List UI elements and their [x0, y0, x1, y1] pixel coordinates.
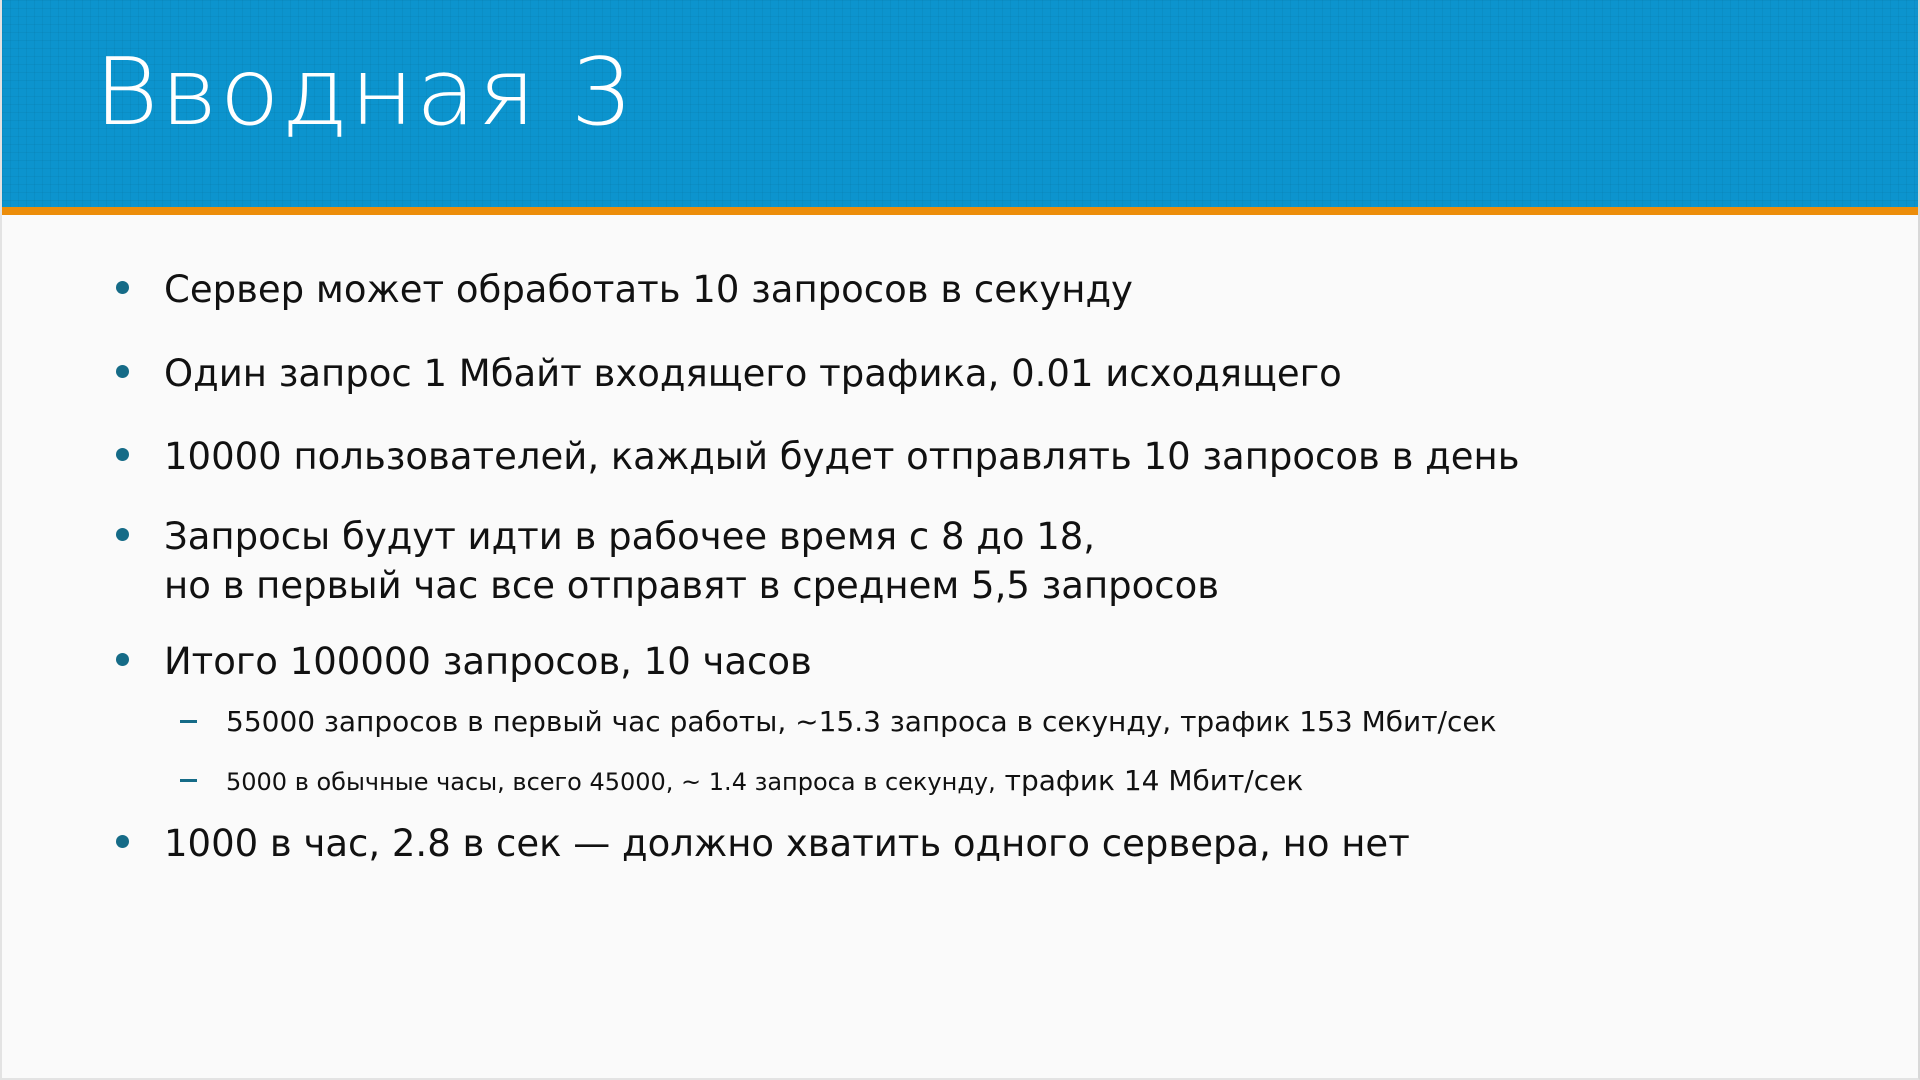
bullet-text: Итого 100000 запросов, 10 часов	[164, 637, 1852, 687]
bullet-dash-icon	[180, 779, 197, 782]
sub-bullet-text-small: 5000 в обычные часы, всего 45000, ~ 1.4 …	[226, 768, 996, 796]
list-item: Итого 100000 запросов, 10 часов 55000 за…	[102, 637, 1852, 799]
slide: Вводная 3 Сервер может обработать 10 зап…	[0, 0, 1920, 1080]
list-item: Сервер может обработать 10 запросов в се…	[102, 265, 1852, 315]
sub-bullet-text: 55000 запросов в первый час работы, ~15.…	[226, 705, 1497, 738]
bullet-text: Запросы будут идти в рабочее время с 8 д…	[164, 512, 1852, 611]
bullet-text: 1000 в час, 2.8 в сек — должно хватить о…	[164, 819, 1852, 869]
list-item: Один запрос 1 Мбайт входящего трафика, 0…	[102, 349, 1852, 399]
bullet-dot-icon	[116, 835, 129, 848]
sub-list-item: 55000 запросов в первый час работы, ~15.…	[164, 704, 1852, 740]
list-item: 10000 пользователей, каждый будет отправ…	[102, 432, 1852, 482]
bullet-dot-icon	[116, 653, 129, 666]
page-title: Вводная 3	[94, 46, 635, 139]
bullet-text: 10000 пользователей, каждый будет отправ…	[164, 432, 1852, 482]
slide-body: Сервер может обработать 10 запросов в се…	[2, 215, 1920, 1080]
bullet-text-line-2: но в первый час все отправят в среднем 5…	[164, 561, 1852, 611]
sub-list-item: 5000 в обычные часы, всего 45000, ~ 1.4 …	[164, 763, 1852, 799]
sub-bullet-list: 55000 запросов в первый час работы, ~15.…	[164, 704, 1852, 799]
bullet-dot-icon	[116, 365, 129, 378]
bullet-text-line-1: Запросы будут идти в рабочее время с 8 д…	[164, 515, 1095, 558]
bullet-dot-icon	[116, 448, 129, 461]
bullet-dot-icon	[116, 528, 129, 541]
bullet-list: Сервер может обработать 10 запросов в се…	[102, 265, 1852, 869]
sub-bullet-text-large: трафик 14 Мбит/сек	[996, 764, 1304, 797]
bullet-dot-icon	[116, 281, 129, 294]
bullet-text: Сервер может обработать 10 запросов в се…	[164, 265, 1852, 315]
slide-header-banner: Вводная 3	[2, 0, 1920, 207]
list-item: Запросы будут идти в рабочее время с 8 д…	[102, 512, 1852, 611]
bullet-dash-icon	[180, 720, 197, 723]
list-item: 1000 в час, 2.8 в сек — должно хватить о…	[102, 819, 1852, 869]
header-accent-rule	[2, 207, 1920, 215]
bullet-text: Один запрос 1 Мбайт входящего трафика, 0…	[164, 349, 1852, 399]
